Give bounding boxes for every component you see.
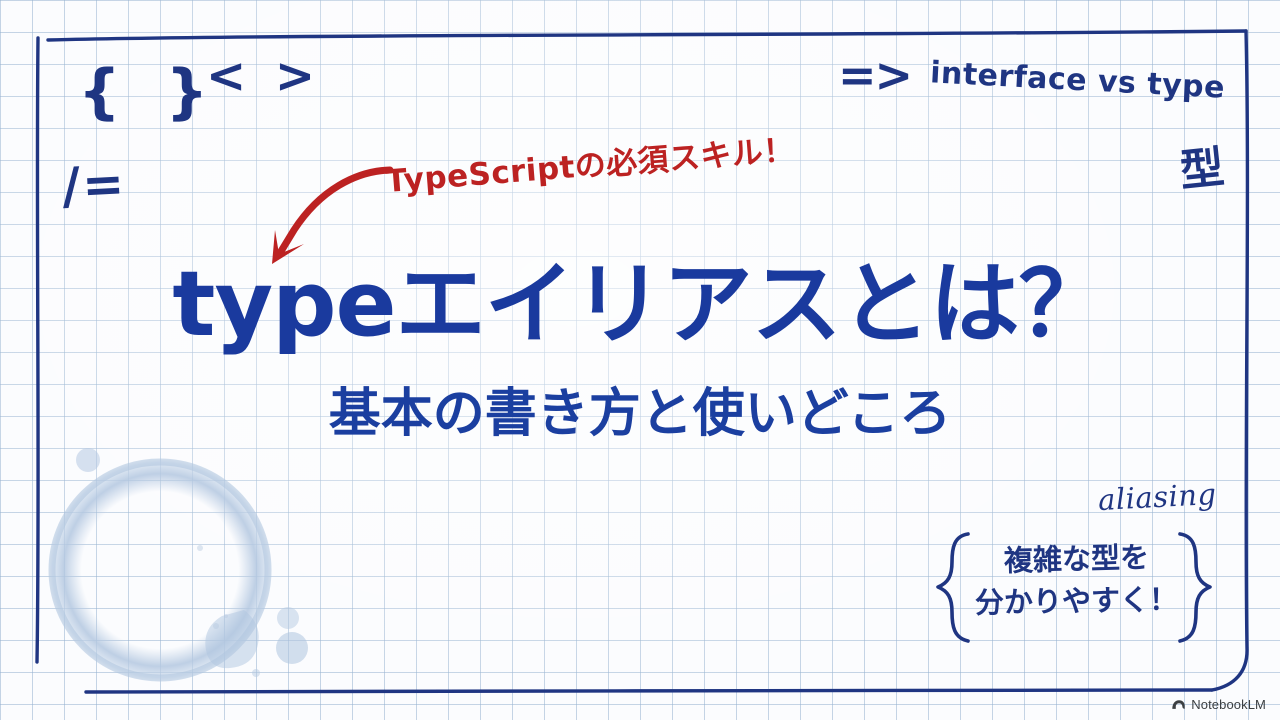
page-subtitle: 基本の書き方と使いどころ: [0, 371, 1280, 446]
watermark-label: NotebookLM: [1191, 697, 1266, 712]
notebooklm-spiral-icon: [1171, 697, 1186, 712]
coffee-ring-stain: [30, 430, 360, 710]
page-title: typeエイリアスとは？: [0, 258, 1280, 353]
doodle-kata-kanji: 型: [1178, 146, 1226, 194]
callout-line-1: 複雑な型を: [973, 535, 1179, 582]
doodle-angle-brackets: < >: [206, 52, 321, 100]
doodle-slash-equals: /=: [61, 158, 128, 211]
red-annotation-note: TypeScriptの必須スキル！: [384, 124, 796, 201]
brace-callout: 複雑な型を 分かりやすく！: [930, 528, 1220, 646]
doodle-aliasing: aliasing: [1097, 480, 1217, 515]
callout-text: 複雑な型を 分かりやすく！: [974, 538, 1179, 622]
callout-line-2: 分かりやすく！: [974, 578, 1180, 624]
slide-canvas: { } < > /= => interface vs type 型 aliasi…: [0, 0, 1280, 720]
headline-block: typeエイリアスとは？ 基本の書き方と使いどころ: [0, 258, 1280, 446]
notebooklm-watermark: NotebookLM: [1171, 697, 1266, 712]
doodle-curly-braces: { }: [78, 62, 220, 122]
doodle-fat-arrow: =>: [838, 52, 911, 98]
doodle-interface-vs-type: interface vs type: [929, 58, 1225, 103]
